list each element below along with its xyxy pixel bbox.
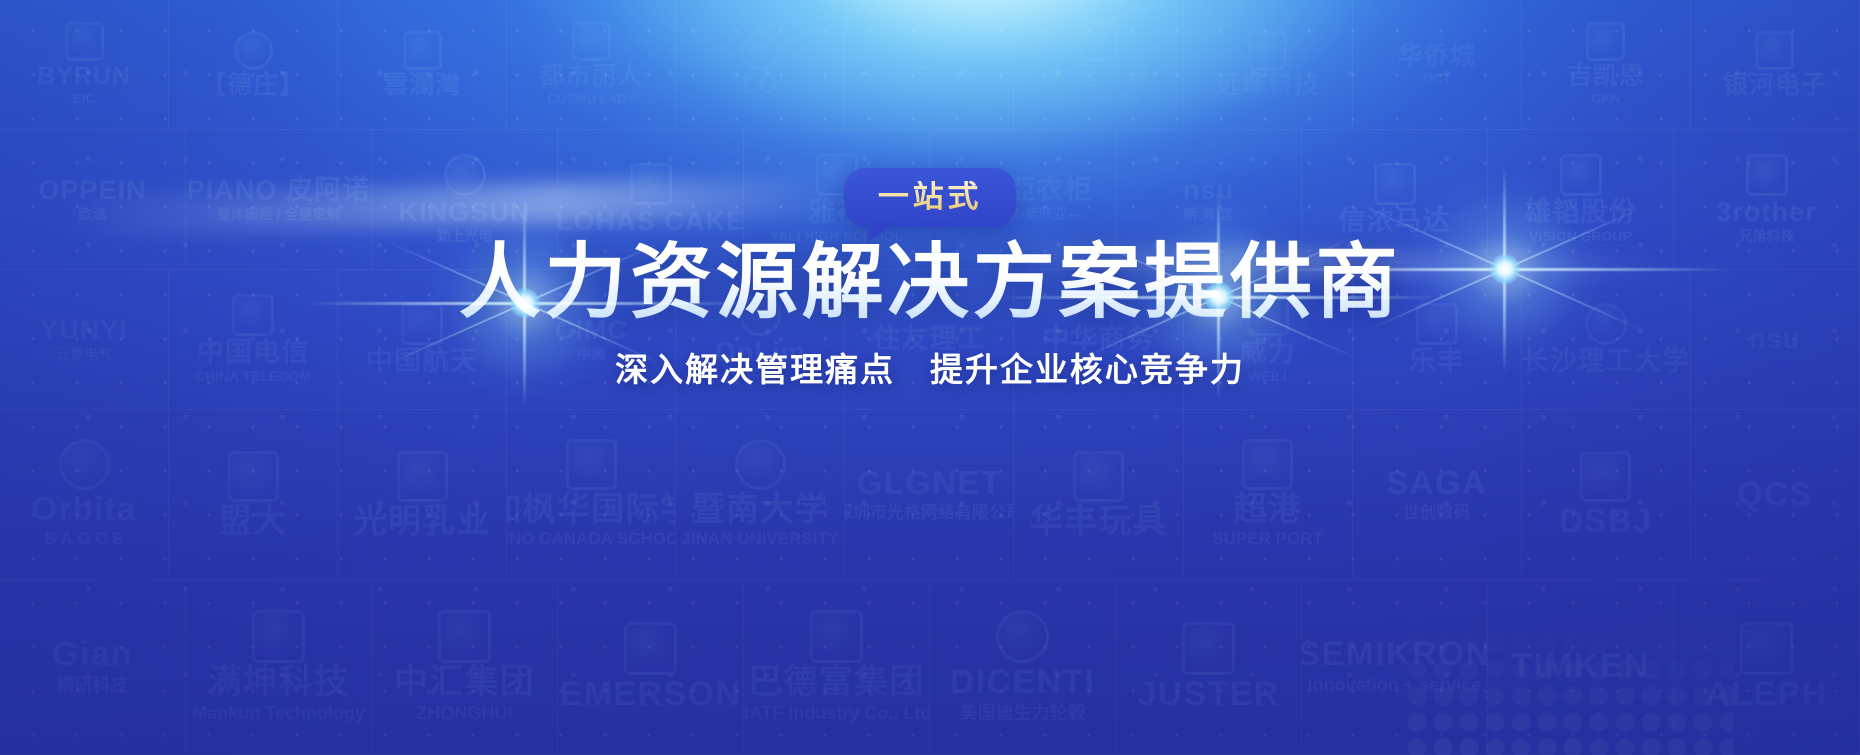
logo-cell-bright-dairy: 光明乳业 (338, 410, 507, 580)
logo-name: 远峰科技 (1216, 72, 1320, 98)
logo-wall-row: BYRUNEIC【德庄】雲瀾灣都市丽人COSMO LADYLG鸿图集团大运汽车D… (0, 0, 1860, 130)
logo-name: 雲瀾灣 (383, 72, 461, 98)
logo-cell-semikron: SEMIKRONinnovation + service (1302, 580, 1488, 755)
logo-name: 中国航天 (366, 347, 478, 375)
logo-subtitle: Mankun Technology (192, 703, 365, 725)
logo-cell-dezhuang: 【德庄】 (169, 0, 338, 130)
logo-cell-huafeng-toys: 华丰玩具 (1014, 410, 1183, 580)
logo-name: 大运汽车 (1047, 63, 1151, 89)
logo-cell-oct: 华侨城OCT (1353, 0, 1522, 130)
flag-icon (1580, 451, 1631, 502)
logo-cell-qcs: QCS (1691, 410, 1860, 580)
partner-logo-wall: BYRUNEIC【德庄】雲瀾灣都市丽人COSMO LADYLG鸿图集团大运汽车D… (0, 0, 1860, 755)
logo-name: LG (742, 72, 779, 98)
seal-icon (1585, 303, 1627, 345)
logo-subtitle: 云意电气 (56, 346, 112, 363)
logo-name: 3rother (1716, 198, 1817, 226)
gear-icon (228, 451, 279, 502)
logo-subtitle: 中集 (577, 346, 605, 363)
butterfly-icon (572, 22, 611, 61)
pillars-icon (910, 31, 949, 70)
logo-cell-lohas-cake: LOHAS CAKE (558, 130, 744, 270)
logo-wall-row: YUNYI云意电气中国电信CHINA TELECOM中国航天CIMC中集OnLi… (0, 270, 1860, 410)
circle-face-icon (741, 31, 780, 70)
logo-name: 光明乳业 (354, 504, 491, 539)
logo-cell-oppein: OPPEIN欧派 (0, 130, 186, 270)
logo-cell-zhonghui-group: 中汇集团ZHONGHUI (372, 580, 558, 755)
logo-name: 华丰玩具 (1030, 504, 1167, 539)
logo-cell-nsu-seaunion: nsu新 海 宜 (1116, 130, 1302, 270)
logo-cell-sumitomo-riko: 住友理工 (845, 270, 1014, 410)
logo-name: KINGSUN (398, 198, 530, 226)
spiral-icon (438, 610, 491, 663)
hex-icon (252, 610, 305, 663)
logo-name: YUNYI (40, 316, 128, 344)
crest-icon (566, 439, 617, 490)
logo-subtitle: innovation + service (1308, 675, 1482, 697)
logo-cell-timken: TIMKEN (1488, 580, 1674, 755)
logo-name: 华侨城 (1398, 43, 1476, 69)
logo-subtitle: SUPER PORT (1212, 529, 1323, 549)
logo-cell-orbita-baoce: OrbitaB A O C E (0, 410, 169, 580)
logo-cell-kingsun: KINGSUN勤上光电 (372, 130, 558, 270)
logo-cell-dicenti: DICENTI美国迪生力轮毂 (930, 580, 1116, 755)
logo-name: DICENTI (950, 665, 1096, 701)
logo-subtitle: GKN (1591, 91, 1620, 107)
logo-name: SEMIKRON (1302, 637, 1488, 673)
logo-cell-qe-mark: 乐丰 (1353, 270, 1522, 410)
logo-subtitle: COSMO LADY (547, 91, 635, 107)
logo-subtitle: ZHONGHUI (417, 703, 513, 725)
seal-icon (234, 31, 273, 70)
hero-banner: BYRUNEIC【德庄】雲瀾灣都市丽人COSMO LADYLG鸿图集团大运汽车D… (0, 0, 1860, 755)
logo-cell-yinhe-electronics: 银河电子 (1691, 0, 1860, 130)
logo-cell-china-telecom: 中国电信CHINA TELECOM (169, 270, 338, 410)
logo-name: 吉凯恩 (1567, 63, 1645, 89)
logo-cell-lg: LG (676, 0, 845, 130)
wave-icon (65, 22, 104, 61)
logo-cell-aleph: ALEPH (1674, 580, 1860, 755)
logo-cell-csust: 长沙理工大学 (1522, 270, 1691, 410)
wheel-icon (1079, 22, 1118, 61)
logo-name: 中加枫华国际学校 (507, 492, 676, 527)
logo-name: 中华商务 (1042, 325, 1154, 353)
logo-cell-saga: SAGA世创数码 (1353, 410, 1522, 580)
logo-name: 中汇集团 (394, 665, 535, 701)
logo-subtitle: 美国迪生力轮毂 (960, 703, 1086, 725)
swoosh-icon (1248, 31, 1287, 70)
logo-cell-brother-tech: 3rother兄弟科技 (1674, 130, 1860, 270)
logo-cell-shinano-motor: 信浓马达 (1302, 130, 1488, 270)
logo-subtitle: SINO CANADA SCHOOL (507, 529, 676, 549)
logo-name: CIMC (555, 316, 628, 344)
orbit-icon (59, 439, 110, 490)
casc-icon (401, 303, 443, 345)
logo-subtitle: JINAN UNIVERSITY (681, 529, 839, 549)
logo-cell-batf: 巴德富集团BATF Industry Co., Ltd. (744, 580, 930, 755)
logo-cell-emerson: EMERSON (558, 580, 744, 755)
logo-name: TIMKEN (1511, 649, 1649, 685)
logo-cell-vision-group: 雄韬股份VISION GROUP (1488, 130, 1674, 270)
galaxy-icon (1755, 31, 1794, 70)
logo-name: 满坤科技 (208, 665, 349, 701)
logo-wall-row: OrbitaB A O C E盟大光明乳业中加枫华国际学校SINO CANADA… (0, 410, 1860, 580)
logo-name: ALEPH (1705, 677, 1827, 713)
logo-name: 盟大 (219, 504, 288, 539)
logo-name: nsu (1183, 176, 1234, 204)
logo-name: 鸿图集团 (877, 72, 981, 98)
logo-cell-yuanfeng-tech: 远峰科技 (1184, 0, 1353, 130)
logo-cell-mengda: 盟大 (169, 410, 338, 580)
logo-subtitle: 勤上光电 (437, 228, 493, 245)
logo-cell-jinan-university: 暨南大学JINAN UNIVERSITY (676, 410, 845, 580)
j-icon (1182, 622, 1235, 675)
logo-subtitle: DAYUNAUTO (1058, 91, 1140, 107)
logo-cell-yunlanwan: 雲瀾灣 (338, 0, 507, 130)
oval-icon (996, 610, 1049, 663)
logo-cell-china-aerospace: 中国航天 (338, 270, 507, 410)
twin-icon (1073, 451, 1124, 502)
logo-name: 都市丽人 (539, 63, 643, 89)
logo-subtitle: 兄弟科技 (1739, 228, 1795, 245)
v-mark-icon (1560, 154, 1602, 196)
logo-cell-dsbj: DSBJ (1522, 410, 1691, 580)
logo-name: LOHAS CAKE (558, 207, 744, 235)
logo-cell-chaogang: 超港SUPER PORT (1184, 410, 1353, 580)
logo-name: Gian (52, 637, 133, 673)
logo-cell-yunyi-electric: YUNYI云意电气 (0, 270, 169, 410)
logo-cell-piano: PIANO 皮阿诺整体橱柜 / 全屋定制 (186, 130, 372, 270)
lotus-icon (403, 31, 442, 70)
logo-subtitle: 世创数码 (1403, 503, 1471, 523)
rings-icon (1247, 294, 1289, 336)
logo-name: 威力 (1240, 338, 1296, 366)
logo-subtitle: 新 海 宜 (1184, 206, 1234, 223)
logo-subtitle: OCT (1423, 71, 1450, 87)
o-ring-icon (739, 294, 781, 336)
logo-cell-zhonghua-commerce: 中华商务 (1014, 270, 1183, 410)
star-icon (1746, 154, 1788, 196)
logo-cell-cosmo-lady: 都市丽人COSMO LADY (507, 0, 676, 130)
logo-cell-hongtu-group: 鸿图集团 (845, 0, 1014, 130)
logo-name: 雄韬股份 (1524, 198, 1636, 226)
logo-name: 【德庄】 (201, 72, 305, 98)
logo-name: Orbita (31, 492, 136, 527)
logo-name: QCS (1737, 477, 1812, 512)
logo-name: 长沙理工大学 (1522, 347, 1690, 375)
bar-icon (624, 622, 677, 675)
logo-name: OnLim (715, 338, 806, 366)
logo-subtitle: 深圳市光格网络有限公司 (845, 503, 1014, 523)
logo-cell-dayun-auto: 大运汽车DAYUNAUTO (1014, 0, 1183, 130)
logo-cell-weili: 威力WEILI (1184, 270, 1353, 410)
logo-subtitle: 精研科技 (57, 675, 129, 697)
logo-cell-mankun-tech: 满坤科技Mankun Technology (186, 580, 372, 755)
logo-cell-juster: JUSTER (1116, 580, 1302, 755)
shinano-icon (1374, 163, 1416, 205)
logo-name: JUSTER (1137, 677, 1279, 713)
logo-cell-gkn: 吉凯恩GKN (1522, 0, 1691, 130)
logo-name: 乐丰 (1409, 347, 1465, 375)
logo-name: 中国电信 (197, 338, 309, 366)
one-stop-badge[interactable]: 一站式 (844, 168, 1016, 227)
logo-subtitle: 整体橱柜 / 全屋定制 (217, 206, 341, 223)
chevrons-icon (1586, 22, 1625, 61)
logo-name: EMERSON (560, 677, 741, 713)
logo-subtitle: WEILI (1248, 368, 1287, 385)
logo-cell-cimc: CIMC中集 (507, 270, 676, 410)
seal-icon (735, 439, 786, 490)
logo-cell-onlim: OnLim乐垫 (676, 270, 845, 410)
logo-subtitle: VISION GROUP (1529, 228, 1632, 245)
logo-name: BYRUN (37, 63, 131, 89)
logo-subtitle: BATF Industry Co., Ltd. (744, 703, 930, 725)
logo-subtitle: CHINA TELECOM (195, 368, 311, 385)
logo-name: 巴德富集团 (748, 665, 925, 701)
droplet-icon (630, 163, 672, 205)
one-stop-badge-label: 一站式 (878, 181, 982, 212)
logo-name: OPPEIN (38, 176, 147, 204)
flame-icon (397, 451, 448, 502)
logo-name: nsu (1749, 325, 1800, 353)
logo-name: 银河电子 (1723, 72, 1827, 98)
logo-subtitle: 乐垫 (746, 368, 774, 385)
logo-cell-nsu-2: nsu (1691, 270, 1860, 410)
logo-name: 信浓马达 (1338, 207, 1450, 235)
logo-cell-sino-canada-school: 中加枫华国际学校SINO CANADA SCHOOL (507, 410, 676, 580)
logo-cell-glgnet: GLGNET深圳市光格网络有限公司 (845, 410, 1014, 580)
flower-icon (810, 610, 863, 663)
ks-circle-icon (444, 154, 486, 196)
logo-name: 超港 (1233, 492, 1302, 527)
telecom-icon (232, 294, 274, 336)
logo-cell-gian: Gian精研科技 (0, 580, 186, 755)
qe-icon (1416, 303, 1458, 345)
logo-cell-byrun: BYRUNEIC (0, 0, 169, 130)
logo-subtitle: 欧派 (79, 206, 107, 223)
leaf-icon (1242, 439, 1293, 490)
logo-subtitle: B A O C E (45, 529, 124, 549)
triangle-icon (1740, 622, 1793, 675)
logo-name: 住友理工 (873, 325, 985, 353)
logo-name: 暨南大学 (692, 492, 829, 527)
logo-name: PIANO 皮阿诺 (187, 176, 371, 204)
logo-name: GLGNET (857, 466, 1002, 501)
logo-wall-row: Gian精研科技满坤科技Mankun Technology中汇集团ZHONGHU… (0, 580, 1860, 755)
logo-name: SAGA (1386, 466, 1487, 501)
logo-subtitle: EIC (73, 91, 95, 107)
logo-name: DSBJ (1559, 504, 1652, 539)
